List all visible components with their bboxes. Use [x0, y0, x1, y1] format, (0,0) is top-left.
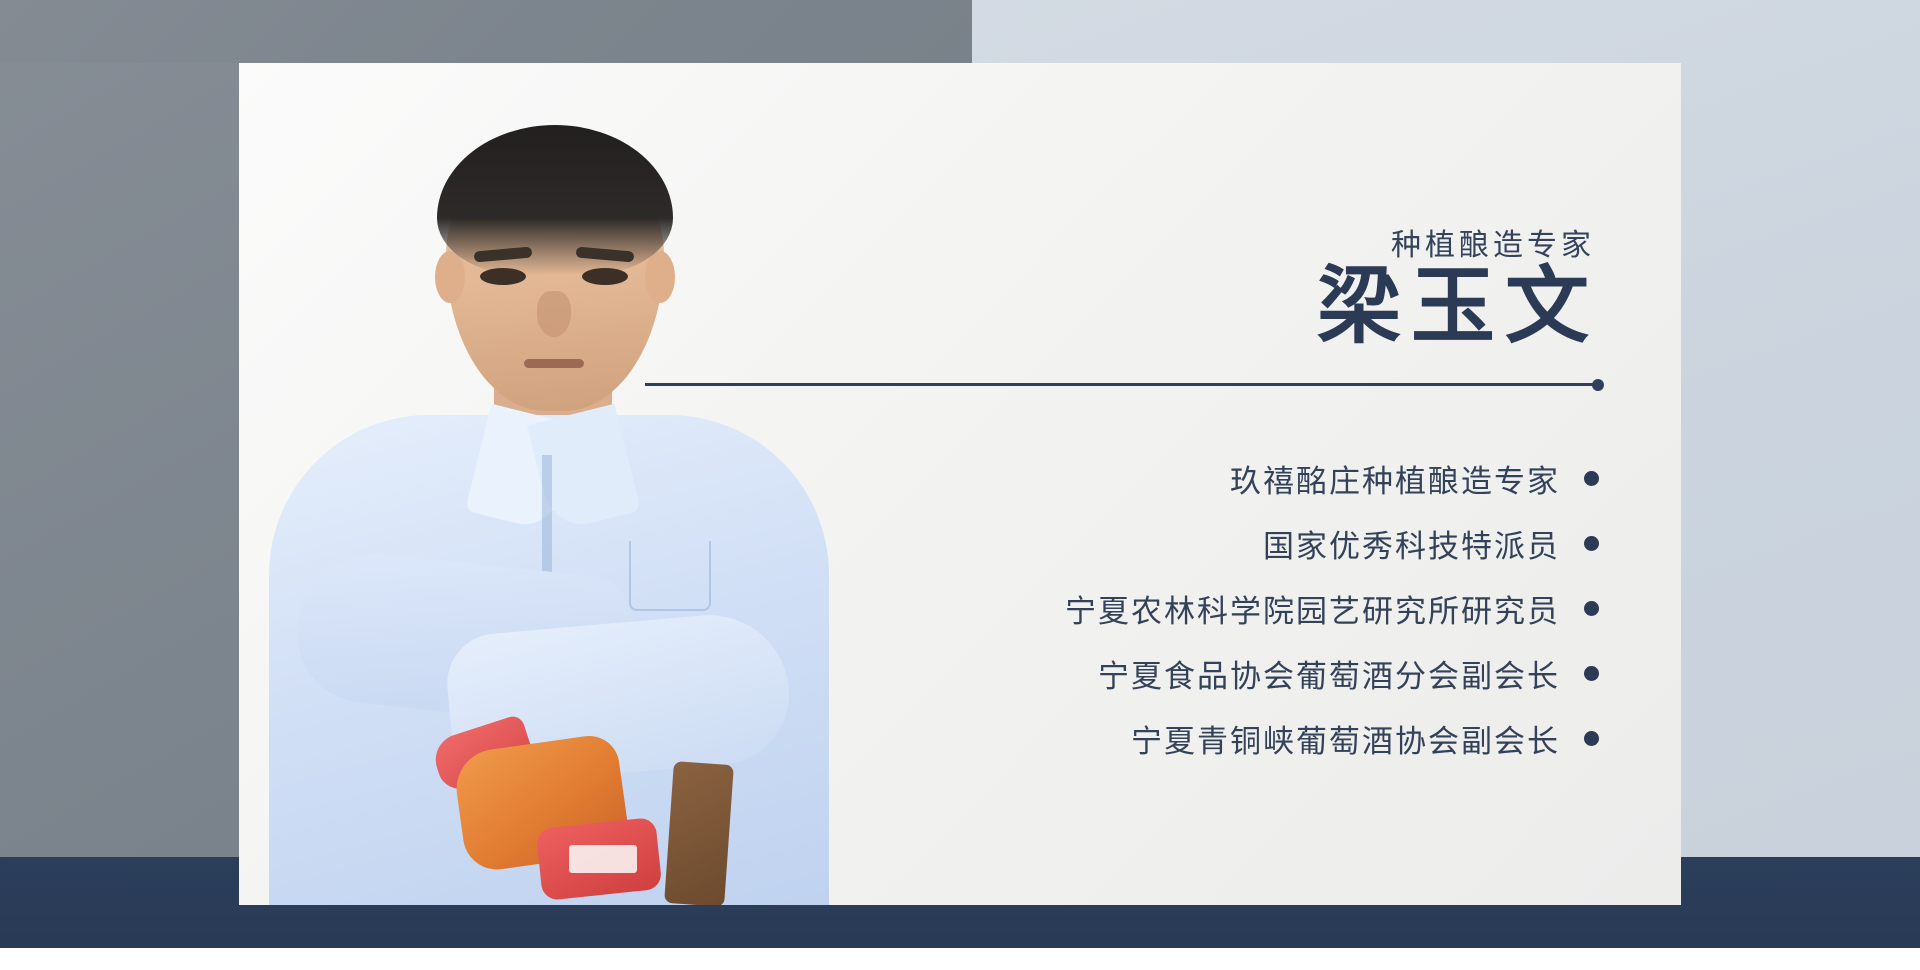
credentials-list: 玖禧酩庄种植酿造专家 国家优秀科技特派员 宁夏农林科学院园艺研究所研究员 宁夏食…	[839, 451, 1599, 776]
background-panel-gray-top	[0, 0, 972, 63]
portrait-eye-left	[480, 268, 526, 285]
portrait-tool-belt	[664, 761, 734, 905]
credential-label: 宁夏食品协会葡萄酒分会副会长	[1098, 651, 1560, 696]
portrait-nose	[537, 291, 571, 337]
list-item: 宁夏食品协会葡萄酒分会副会长	[839, 646, 1599, 700]
list-item: 国家优秀科技特派员	[839, 516, 1599, 570]
portrait-hair	[437, 125, 673, 275]
portrait-shirt-pocket	[629, 541, 711, 611]
credential-label: 国家优秀科技特派员	[1263, 521, 1560, 566]
credential-label: 宁夏农林科学院园艺研究所研究员	[1065, 586, 1560, 631]
credential-label: 宁夏青铜峡葡萄酒协会副会长	[1131, 716, 1560, 761]
bullet-dot-icon	[1584, 601, 1599, 616]
portrait-ear-left	[435, 251, 465, 303]
portrait-ear-right	[645, 251, 675, 303]
background-strip-white	[0, 948, 1920, 970]
list-item: 宁夏农林科学院园艺研究所研究员	[839, 581, 1599, 635]
bullet-dot-icon	[1584, 731, 1599, 746]
bullet-dot-icon	[1584, 471, 1599, 486]
portrait-tool-label	[569, 845, 637, 873]
portrait-eye-right	[582, 268, 628, 285]
title-divider-dot	[1592, 379, 1604, 391]
title-divider	[645, 383, 1598, 386]
slide-canvas: 种植酿造专家 梁玉文 玖禧酩庄种植酿造专家 国家优秀科技特派员 宁夏农林科学院园…	[0, 0, 1920, 970]
page-title: 梁玉文	[1317, 263, 1599, 354]
bullet-dot-icon	[1584, 536, 1599, 551]
list-item: 玖禧酩庄种植酿造专家	[839, 451, 1599, 505]
profile-card: 种植酿造专家 梁玉文 玖禧酩庄种植酿造专家 国家优秀科技特派员 宁夏农林科学院园…	[239, 63, 1681, 905]
portrait-mouth	[524, 359, 584, 368]
portrait-photo	[239, 63, 859, 905]
list-item: 宁夏青铜峡葡萄酒协会副会长	[839, 711, 1599, 765]
credential-label: 玖禧酩庄种植酿造专家	[1230, 456, 1560, 501]
profile-eyebrow: 种植酿造专家	[1391, 220, 1595, 264]
bullet-dot-icon	[1584, 666, 1599, 681]
